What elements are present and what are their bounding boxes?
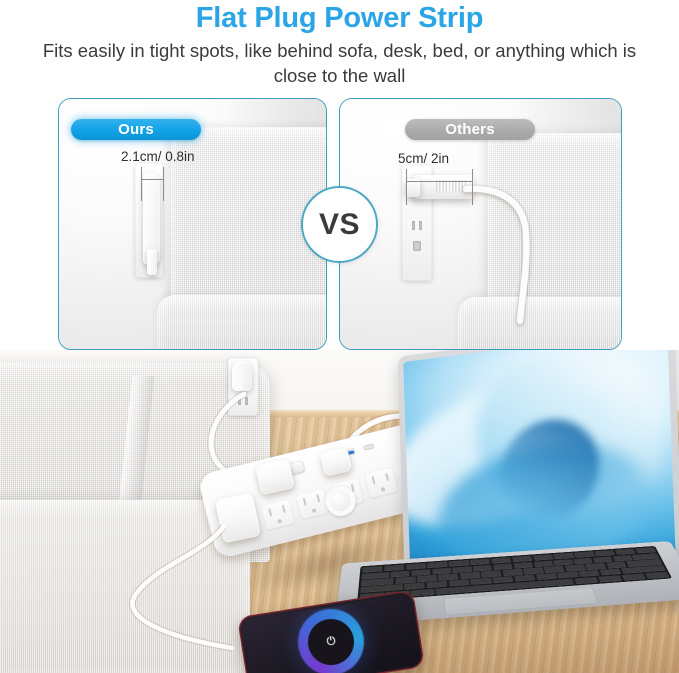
measure-tick-left-1 bbox=[141, 167, 142, 201]
badge-others: Others bbox=[405, 119, 535, 140]
laptop-screen bbox=[403, 350, 676, 572]
page-subtitle: Fits easily in tight spots, like behind … bbox=[40, 38, 640, 88]
comparison-section: 2.1cm/ 0.8in bbox=[0, 98, 679, 350]
wall-outlet-flat-plug bbox=[232, 361, 252, 391]
measure-bar-right bbox=[406, 181, 473, 182]
lifestyle-photo: ⏻ bbox=[0, 350, 679, 673]
socket-slot-right-a bbox=[412, 221, 415, 230]
measure-tick-left-2 bbox=[163, 167, 164, 201]
measure-tick-right-2 bbox=[472, 169, 473, 205]
page-title: Flat Plug Power Strip bbox=[0, 0, 679, 35]
badge-ours: Ours bbox=[71, 119, 201, 140]
vs-circle: VS bbox=[301, 186, 378, 263]
socket-slot-right-c bbox=[413, 241, 421, 251]
bulky-plug-cable bbox=[460, 175, 580, 325]
measure-bar-left bbox=[141, 179, 164, 180]
measure-tick-right-1 bbox=[406, 169, 407, 205]
product-marketing-image: Flat Plug Power Strip Fits easily in tig… bbox=[0, 0, 679, 673]
header: Flat Plug Power Strip Fits easily in tig… bbox=[0, 0, 679, 92]
sofa-seat-left bbox=[157, 295, 327, 350]
measurement-label-others: 5cm/ 2in bbox=[398, 151, 449, 166]
flat-plug-cable-exit bbox=[147, 249, 157, 275]
socket-slot-right-b bbox=[419, 221, 422, 230]
measurement-label-ours: 2.1cm/ 0.8in bbox=[121, 149, 195, 164]
